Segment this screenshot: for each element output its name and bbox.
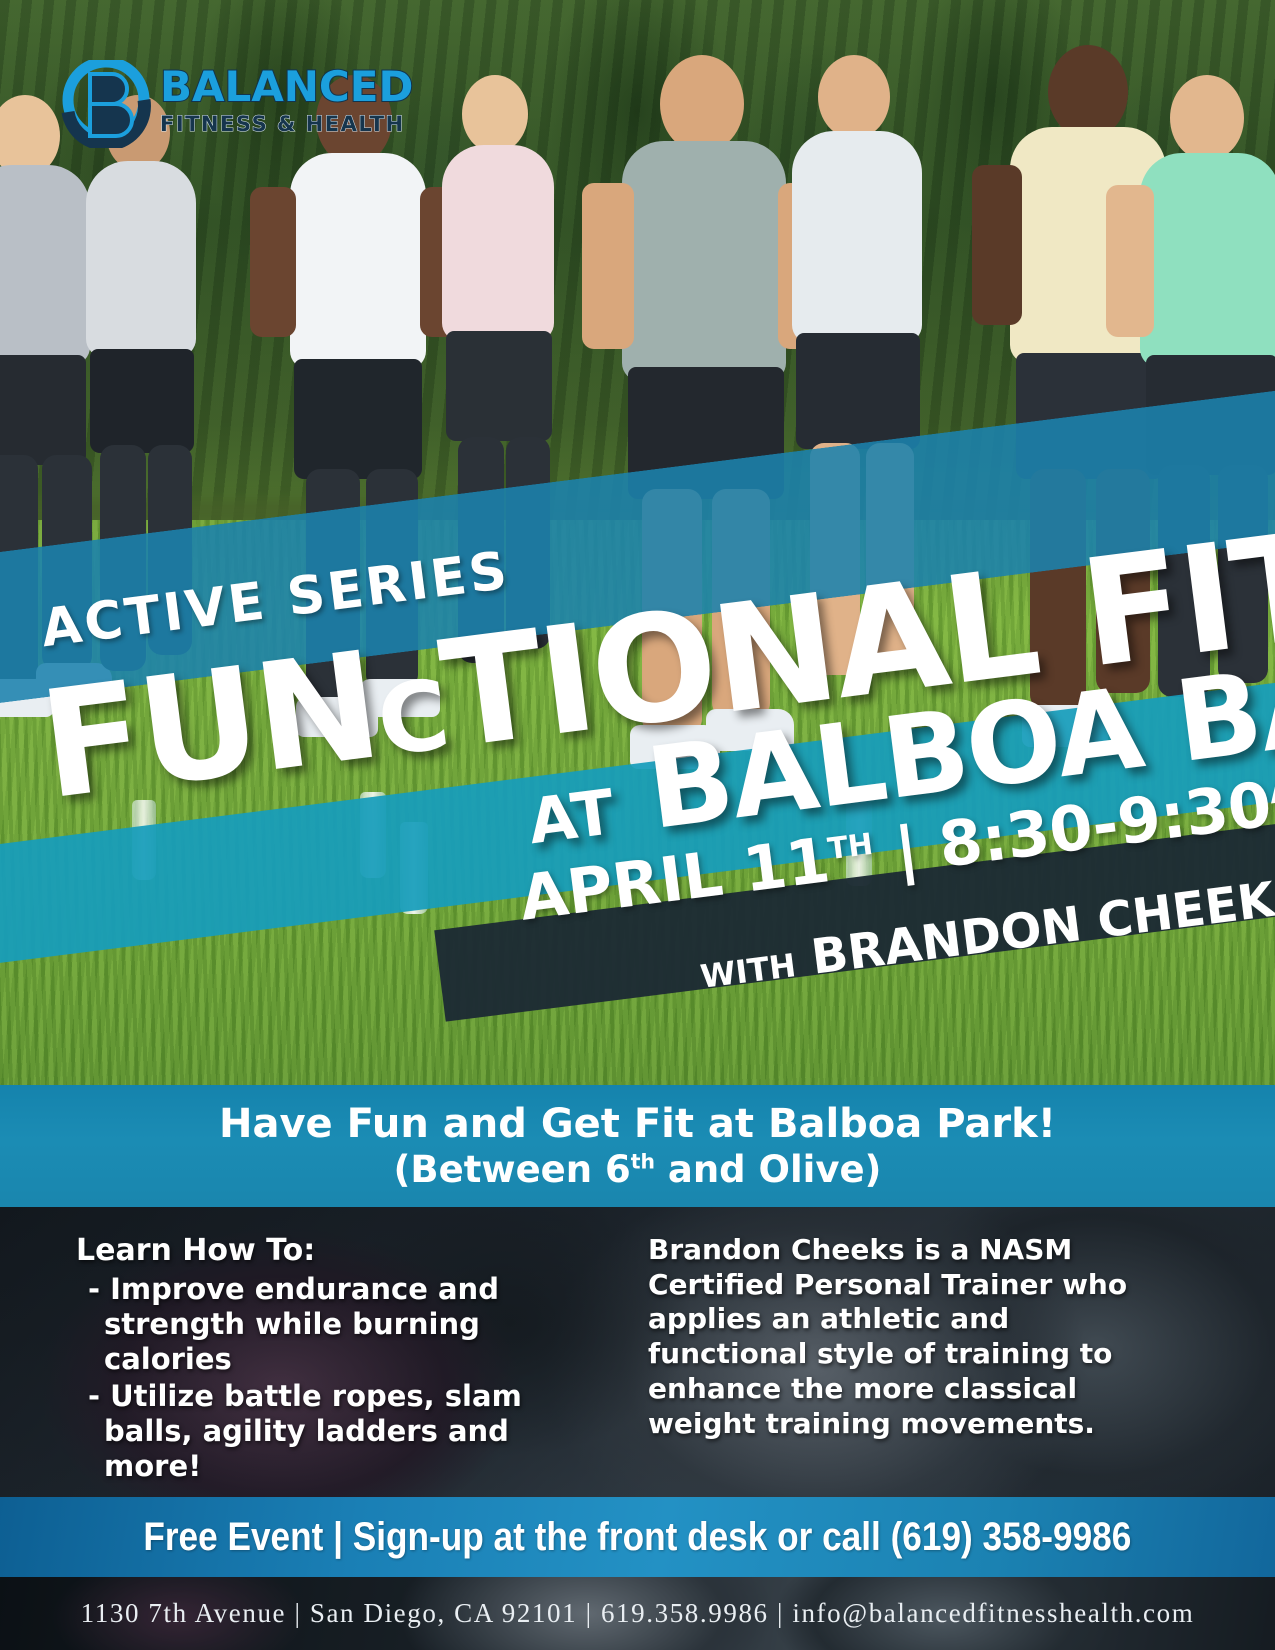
datetime-separator: |	[891, 812, 923, 887]
balanced-b-monogram-icon	[60, 60, 152, 148]
title-at: AT	[524, 775, 618, 858]
learn-heading: Learn How To:	[76, 1233, 596, 1268]
learn-bullet: - Improve endurance and strength while b…	[76, 1272, 596, 1376]
signup-cta-text: Free Event | Sign-up at the front desk o…	[144, 1515, 1132, 1560]
headline-ordinal: th	[631, 1149, 655, 1173]
headline-secondary: (Between 6th and Olive)	[394, 1148, 882, 1192]
footer-bar: 1130 7th Avenue | San Diego, CA 92101 | …	[0, 1577, 1275, 1650]
headline-prefix: (Between 6	[394, 1148, 631, 1191]
learn-bullet: - Utilize battle ropes, slam balls, agil…	[76, 1379, 596, 1483]
headline-suffix: and Olive)	[655, 1148, 882, 1191]
logo-subtitle: FITNESS & HEALTH	[160, 112, 413, 136]
footer-contact-text: 1130 7th Avenue | San Diego, CA 92101 | …	[81, 1598, 1195, 1629]
headline-bar: Have Fun and Get Fit at Balboa Park! (Be…	[0, 1085, 1275, 1207]
learn-column: Learn How To: - Improve endurance and st…	[76, 1233, 596, 1484]
trainer-bio: Brandon Cheeks is a NASM Certified Perso…	[648, 1233, 1178, 1441]
logo-wordmark: BALANCED FITNESS & HEALTH	[160, 66, 413, 136]
trainer-bio-column: Brandon Cheeks is a NASM Certified Perso…	[648, 1233, 1178, 1441]
signup-cta-bar[interactable]: Free Event | Sign-up at the front desk o…	[0, 1497, 1275, 1577]
brand-logo[interactable]: BALANCED FITNESS & HEALTH	[60, 58, 430, 150]
hero-photo: ACTIVE SERIES FUNCTIONAL FITNESS AT BALB…	[0, 0, 1275, 1085]
date-ordinal-suffix: TH	[826, 827, 875, 867]
headline-primary: Have Fun and Get Fit at Balboa Park!	[219, 1101, 1056, 1148]
logo-name: BALANCED	[160, 66, 413, 108]
with-label: WITH	[698, 946, 798, 996]
flyer-page: ACTIVE SERIES FUNCTIONAL FITNESS AT BALB…	[0, 0, 1275, 1650]
